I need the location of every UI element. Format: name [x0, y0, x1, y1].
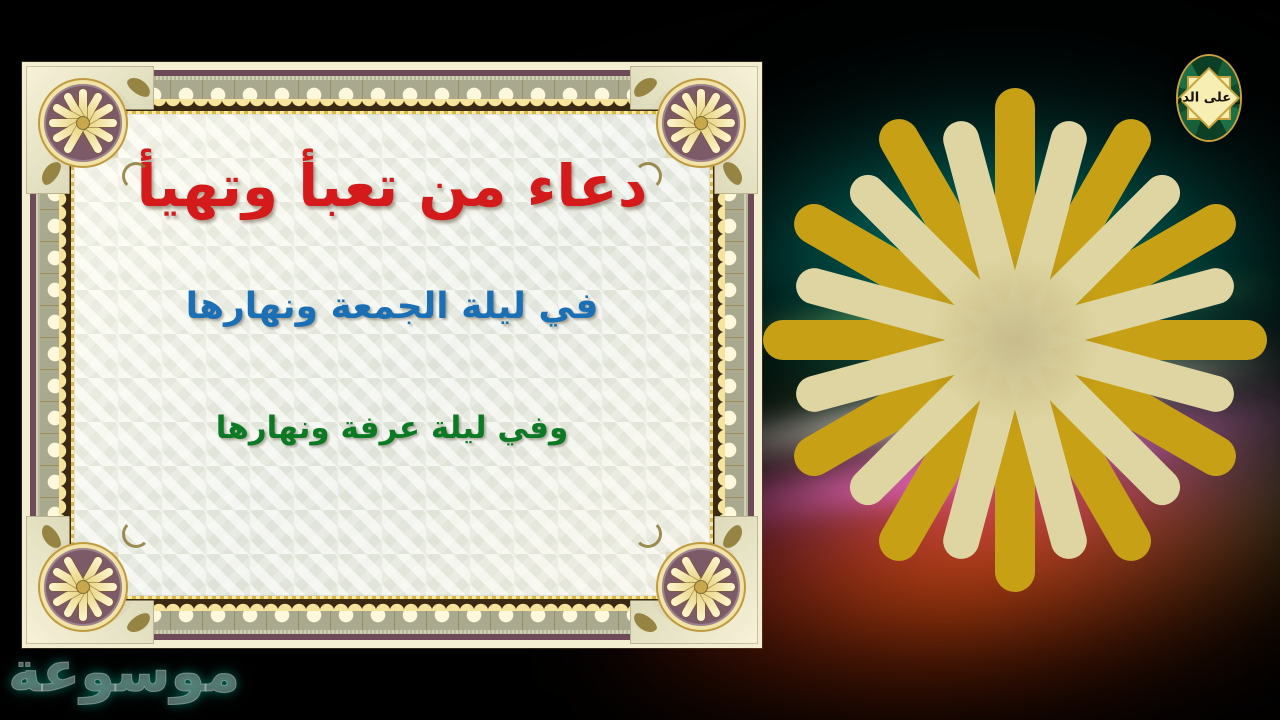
- channel-logo-icon[interactable]: نور على الدرب: [1178, 56, 1240, 140]
- text-panel: دعاء من تعبأ وتهيأ في ليلة الجمعة ونهاره…: [74, 114, 710, 596]
- medallion-hub: [77, 581, 89, 593]
- corner-rosette-top-right: [630, 66, 758, 194]
- corner-scroll-icon: [122, 520, 150, 548]
- corner-medallion: [662, 548, 740, 626]
- medallion-hub: [695, 117, 707, 129]
- medallion-hub: [77, 117, 89, 129]
- corner-medallion: [44, 548, 122, 626]
- logo-calligraphy: نور على الدرب: [1178, 92, 1240, 105]
- subtitle-line-two: وفي ليلة عرفة ونهارها: [74, 410, 710, 446]
- corner-medallion: [662, 84, 740, 162]
- subtitle-line-one: في ليلة الجمعة ونهارها: [74, 286, 710, 327]
- ornate-frame: دعاء من تعبأ وتهيأ في ليلة الجمعة ونهاره…: [22, 62, 762, 648]
- corner-scroll-icon: [634, 520, 662, 548]
- video-frame-canvas: دعاء من تعبأ وتهيأ في ليلة الجمعة ونهاره…: [0, 0, 1280, 720]
- page-title: دعاء من تعبأ وتهيأ: [74, 152, 710, 220]
- corner-rosette-bottom-right: [630, 516, 758, 644]
- corner-scroll-icon: [634, 162, 662, 190]
- watermark: موسوعة: [8, 640, 240, 705]
- corner-scroll-icon: [122, 162, 150, 190]
- corner-rosette-bottom-left: [26, 516, 154, 644]
- corner-medallion: [44, 84, 122, 162]
- medallion-hub: [695, 581, 707, 593]
- corner-rosette-top-left: [26, 66, 154, 194]
